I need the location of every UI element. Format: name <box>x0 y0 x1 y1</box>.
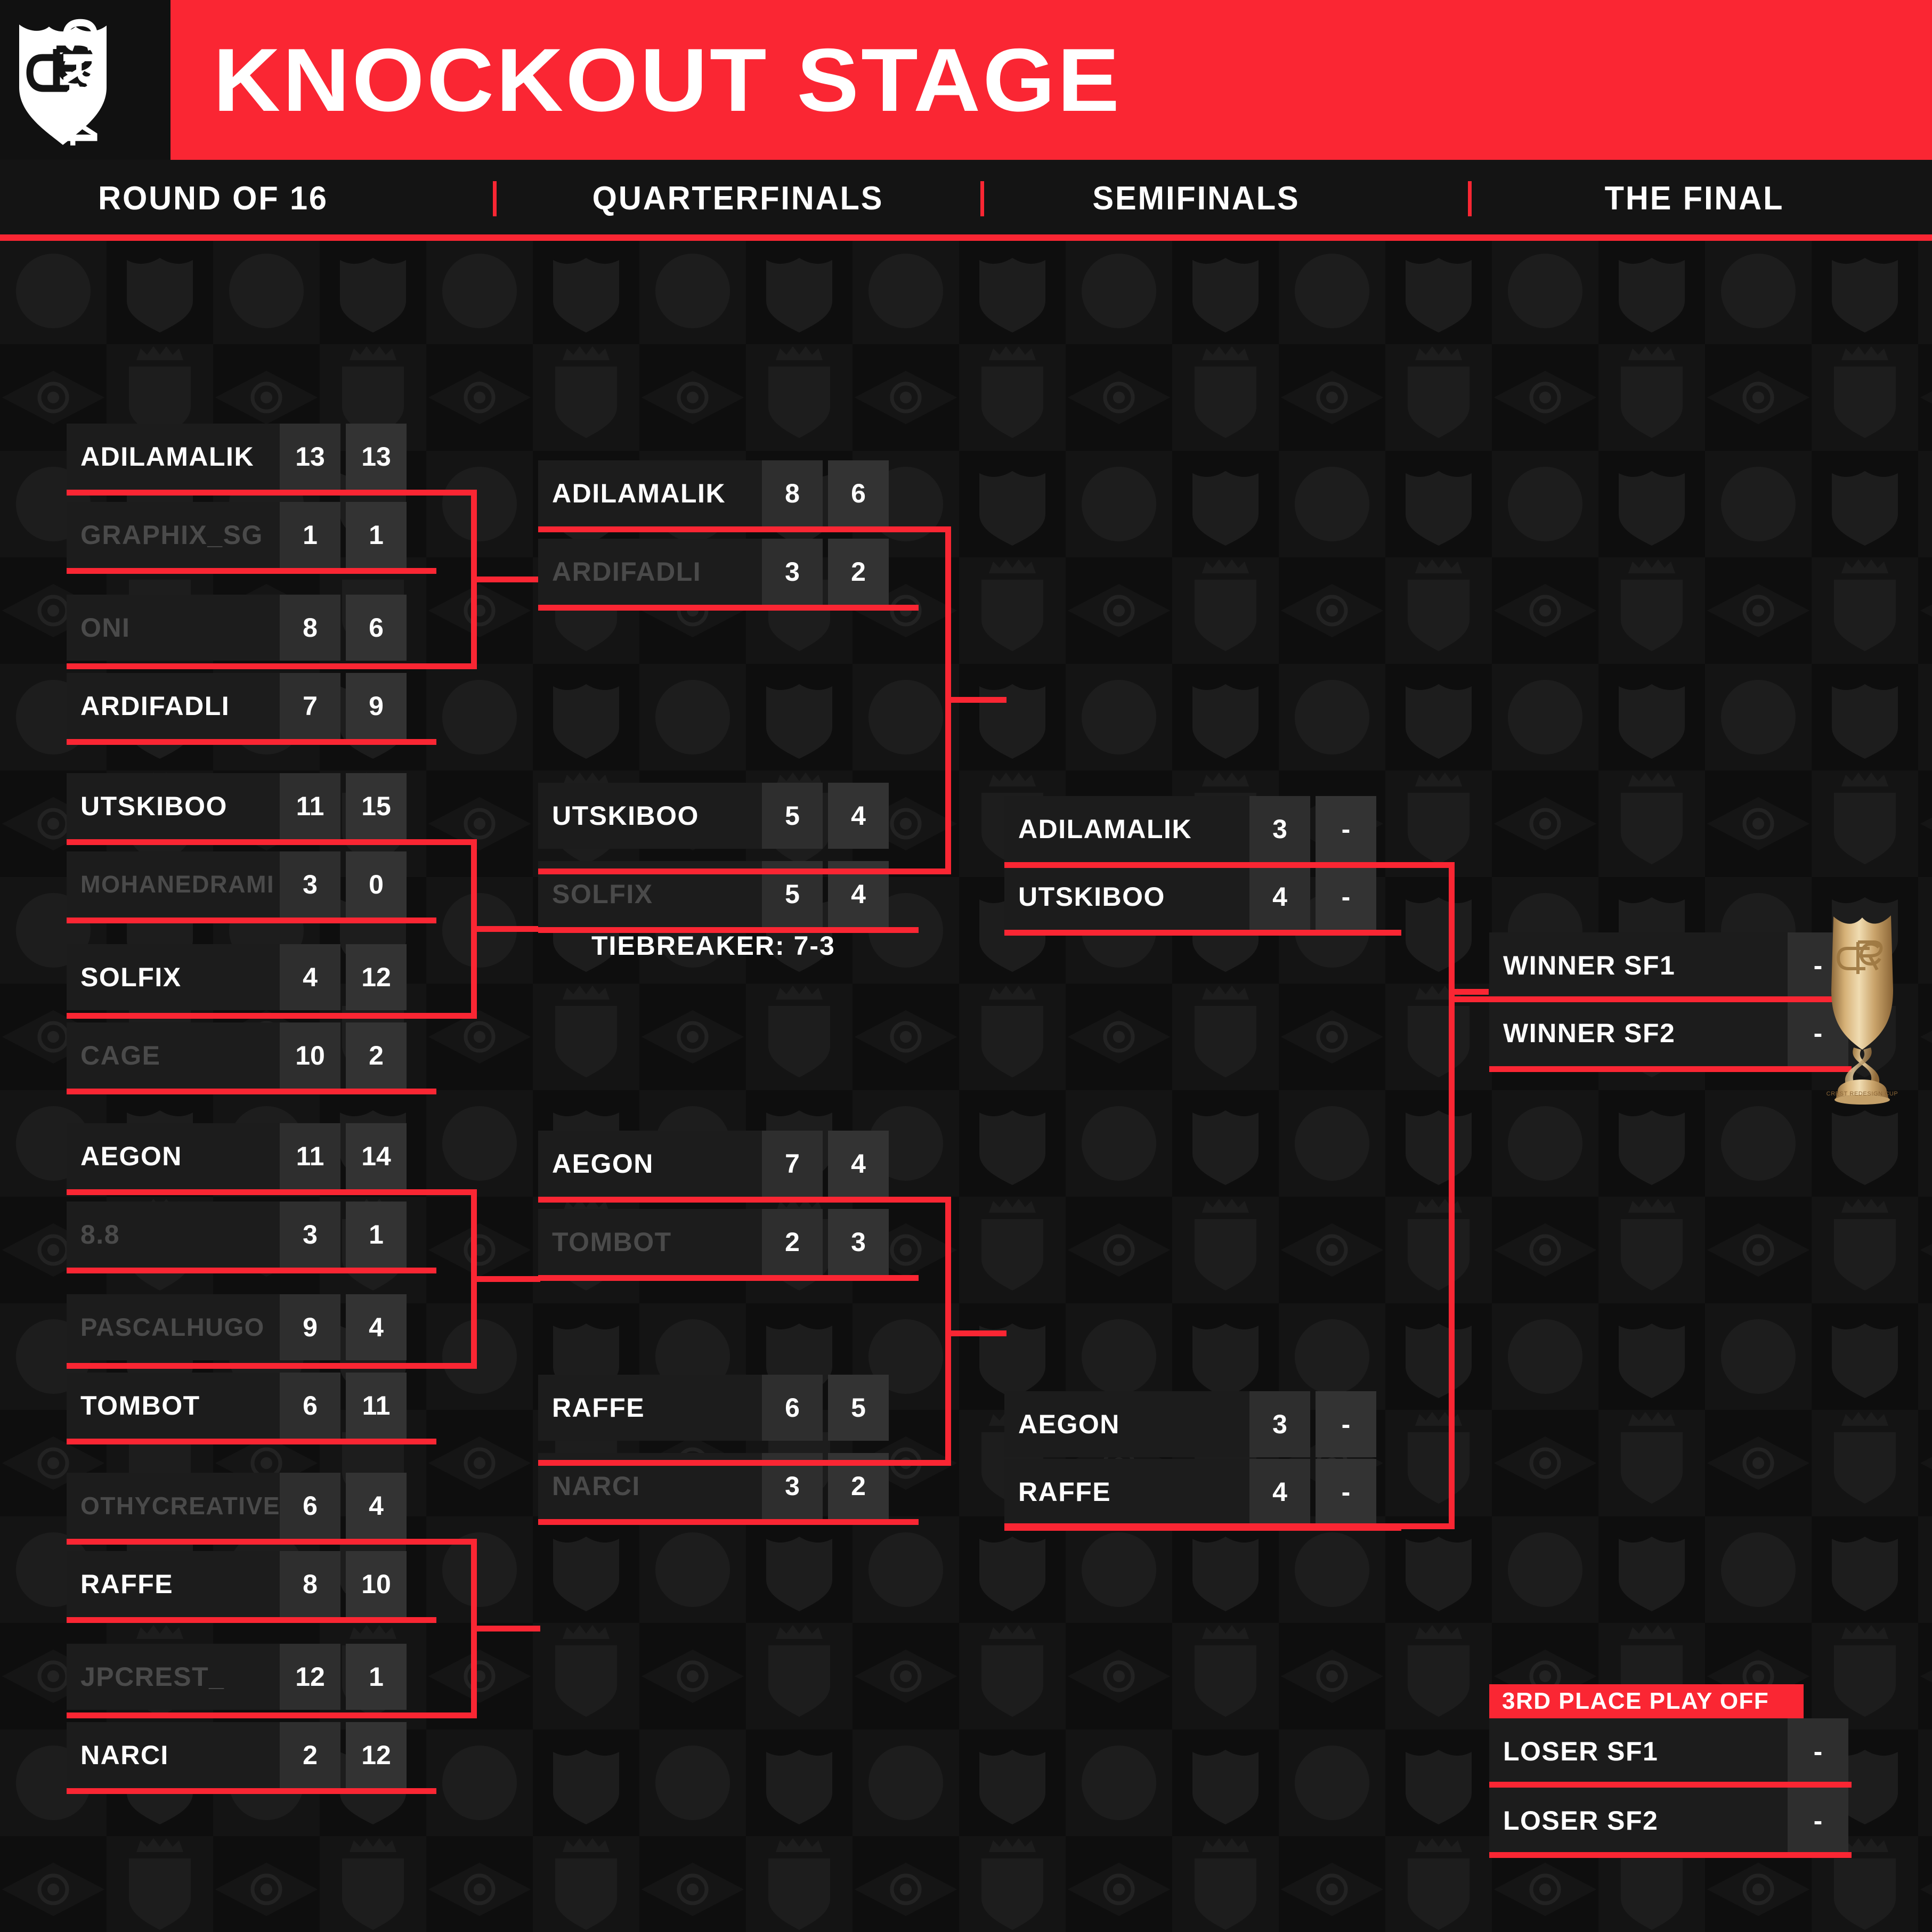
r16-row-1[interactable]: ADILAMALIK 13 13 <box>67 424 408 490</box>
r16-row-8[interactable]: CAGE 10 2 <box>67 1022 408 1089</box>
qf-row-6[interactable]: TOMBOT 2 3 <box>538 1209 890 1275</box>
team-name: UTSKIBOO <box>1004 864 1249 930</box>
score-leg1: 4 <box>1249 864 1310 930</box>
knockout-stage-bracket: CRC4 KNOCKOUT STAGE ROUND OF 16 QUARTERF… <box>0 0 1932 1932</box>
score-leg1: 6 <box>280 1373 340 1439</box>
score-leg2: 12 <box>346 1722 407 1788</box>
final-row-2[interactable]: WINNER SF2 - <box>1489 1000 1852 1066</box>
score-leg1: 4 <box>280 944 340 1010</box>
score-leg1: 11 <box>280 1123 340 1189</box>
score-leg2: 15 <box>346 773 407 839</box>
underline-r16-row14 <box>67 1617 436 1623</box>
qf-row-1[interactable]: ADILAMALIK 8 6 <box>538 460 890 526</box>
third-place-row-1[interactable]: LOSER SF1 - <box>1489 1718 1852 1784</box>
qf-row-7[interactable]: RAFFE 6 5 <box>538 1375 890 1441</box>
score-leg1: 8 <box>762 460 823 526</box>
tab-the-final[interactable]: THE FINAL <box>1500 160 1889 238</box>
connector-r16-p4-out <box>471 1626 540 1631</box>
team-name: JPCREST_ <box>67 1644 280 1710</box>
score-leg1: - <box>1788 1718 1848 1784</box>
underline-qf-row8 <box>538 1519 919 1525</box>
score-leg1: - <box>1788 1788 1848 1854</box>
team-name: ADILAMALIK <box>538 460 762 526</box>
r16-row-13[interactable]: OTHYCREATIVE 6 4 <box>67 1473 408 1539</box>
team-name: LOSER SF2 <box>1489 1788 1788 1854</box>
score-leg1: 3 <box>280 1202 340 1268</box>
score-leg2: 4 <box>346 1473 407 1539</box>
sf-row-4[interactable]: RAFFE 4 - <box>1004 1459 1377 1525</box>
team-name: 8.8 <box>67 1202 280 1268</box>
team-name: RAFFE <box>538 1375 762 1441</box>
underline-r16-row10 <box>67 1268 436 1273</box>
r16-row-2[interactable]: GRAPHIX_SG 1 1 <box>67 502 408 568</box>
team-name: MOHANEDRAMI <box>67 851 280 918</box>
r16-row-6[interactable]: MOHANEDRAMI 3 0 <box>67 851 408 918</box>
connector-sf-p1-right <box>1449 862 1455 1529</box>
underline-sf-row4 <box>1004 1525 1401 1531</box>
connector-r16-p2-out <box>471 926 540 932</box>
score-leg2: - <box>1316 864 1376 930</box>
score-leg2: - <box>1316 796 1376 862</box>
score-leg2: 5 <box>828 1375 889 1441</box>
round-separator-3 <box>1468 181 1472 216</box>
score-leg1: 2 <box>280 1722 340 1788</box>
connector-r16-p2-bot <box>67 1013 477 1019</box>
team-name: NARCI <box>67 1722 280 1788</box>
team-name: CAGE <box>67 1022 280 1089</box>
connector-qf-p2-top <box>538 1197 951 1203</box>
score-leg2: 12 <box>346 944 407 1010</box>
logo-crc4-label: CRC4 <box>53 17 107 145</box>
round-tabs: ROUND OF 16 QUARTERFINALS SEMIFINALS THE… <box>0 160 1932 238</box>
team-name: WINNER SF1 <box>1489 932 1788 999</box>
score-leg1: 1 <box>280 502 340 568</box>
team-name: RAFFE <box>67 1551 280 1617</box>
round-separator-2 <box>980 181 984 216</box>
underline-r16-row12 <box>67 1439 436 1444</box>
score-leg2: 4 <box>346 1294 407 1360</box>
score-leg2: 6 <box>346 595 407 661</box>
score-leg1: 7 <box>280 673 340 739</box>
connector-r16-p4-bot <box>67 1712 477 1718</box>
page-title: KNOCKOUT STAGE <box>213 12 1122 148</box>
r16-row-10[interactable]: 8.8 3 1 <box>67 1202 408 1268</box>
connector-qf-p2-out <box>945 1330 1006 1336</box>
score-leg1: 4 <box>1249 1459 1310 1525</box>
team-name: ARDIFADLI <box>538 539 762 605</box>
score-leg1: 9 <box>280 1294 340 1360</box>
r16-row-9[interactable]: AEGON 11 14 <box>67 1123 408 1189</box>
team-name: ARDIFADLI <box>67 673 280 739</box>
score-leg1: 3 <box>1249 796 1310 862</box>
third-place-row-2[interactable]: LOSER SF2 - <box>1489 1788 1852 1854</box>
team-name: AEGON <box>538 1131 762 1197</box>
page-header: CRC4 KNOCKOUT STAGE <box>0 0 1932 160</box>
score-leg2: 2 <box>346 1022 407 1089</box>
connector-qf-p1-bot <box>538 868 951 874</box>
score-leg1: 6 <box>762 1375 823 1441</box>
r16-row-15[interactable]: JPCREST_ 12 1 <box>67 1644 408 1710</box>
team-name: AEGON <box>1004 1391 1249 1457</box>
connector-r16-p1-top <box>67 490 477 496</box>
connector-qf-p1-out <box>945 697 1006 703</box>
team-name: RAFFE <box>1004 1459 1249 1525</box>
team-name: TOMBOT <box>538 1209 762 1275</box>
connector-qf-p1-top <box>538 526 951 532</box>
trophy-engraving-text: CREST REDESIGN CUP <box>1827 1091 1898 1097</box>
sf-row-2[interactable]: UTSKIBOO 4 - <box>1004 864 1377 930</box>
score-leg2: 0 <box>346 851 407 918</box>
sf-row-3[interactable]: AEGON 3 - <box>1004 1391 1377 1457</box>
score-leg2: 9 <box>346 673 407 739</box>
underline-final-row2 <box>1489 1066 1852 1072</box>
r16-row-7[interactable]: SOLFIX 4 12 <box>67 944 408 1010</box>
score-leg1: 11 <box>280 773 340 839</box>
r16-row-11[interactable]: PASCALHUGO 9 4 <box>67 1294 408 1360</box>
team-name: SOLFIX <box>67 944 280 1010</box>
score-leg2: 10 <box>346 1551 407 1617</box>
score-leg2: 6 <box>828 460 889 526</box>
score-leg1: 3 <box>280 851 340 918</box>
team-name: LOSER SF1 <box>1489 1718 1788 1784</box>
connector-sf-p1-top <box>1004 862 1455 868</box>
tab-quarterfinals[interactable]: QUARTERFINALS <box>521 160 955 238</box>
r16-row-12[interactable]: TOMBOT 6 11 <box>67 1373 408 1439</box>
score-leg1: 2 <box>762 1209 823 1275</box>
underline-sf-row2 <box>1004 930 1401 936</box>
score-leg1: 8 <box>280 595 340 661</box>
score-leg2: 2 <box>828 539 889 605</box>
r16-row-14[interactable]: RAFFE 8 10 <box>67 1551 408 1617</box>
tiebreaker-note: TIEBREAKER: 7-3 <box>591 930 835 961</box>
trophy-cup-icon: CREST REDESIGN CUP <box>1798 910 1932 1113</box>
underline-qf-row2 <box>538 605 919 611</box>
team-name: GRAPHIX_SG <box>67 502 280 568</box>
score-leg1: 12 <box>280 1644 340 1710</box>
team-name: OTHYCREATIVE <box>67 1473 280 1539</box>
underline-r16-row8 <box>67 1089 436 1094</box>
qf-row-2[interactable]: ARDIFADLI 3 2 <box>538 539 890 605</box>
team-name: UTSKIBOO <box>67 773 280 839</box>
underline-third-row1 <box>1489 1782 1852 1788</box>
team-name: UTSKIBOO <box>538 783 762 849</box>
team-name: WINNER SF2 <box>1489 1000 1788 1066</box>
score-leg2: 1 <box>346 1644 407 1710</box>
tab-round-of-16[interactable]: ROUND OF 16 <box>9 160 418 238</box>
team-name: ADILAMALIK <box>67 424 280 490</box>
connector-sf-out <box>1449 989 1489 995</box>
score-leg1: 6 <box>280 1473 340 1539</box>
connector-qf-p2-bot <box>538 1460 951 1466</box>
score-leg2: 14 <box>346 1123 407 1189</box>
connector-r16-p1-out <box>471 577 540 582</box>
connector-r16-p3-out <box>471 1276 540 1282</box>
score-leg1: 5 <box>762 783 823 849</box>
r16-row-3[interactable]: ONI 8 6 <box>67 595 408 661</box>
underline-third-row2 <box>1489 1852 1852 1858</box>
qf-row-5[interactable]: AEGON 7 4 <box>538 1131 890 1197</box>
score-leg1: 13 <box>280 424 340 490</box>
rounds-underline <box>0 234 1932 241</box>
score-leg2: 1 <box>346 1202 407 1268</box>
round-separator-1 <box>493 181 497 216</box>
connector-final-mid <box>1449 996 1852 1002</box>
score-leg1: 10 <box>280 1022 340 1089</box>
connector-r16-p4-top <box>67 1539 477 1545</box>
third-place-header: 3RD PLACE PLAY OFF <box>1489 1684 1804 1718</box>
score-leg2: - <box>1316 1459 1376 1525</box>
underline-qf-row6 <box>538 1275 919 1281</box>
underline-r16-row16 <box>67 1788 436 1794</box>
team-name: TOMBOT <box>67 1373 280 1439</box>
team-name: ADILAMALIK <box>1004 796 1249 862</box>
bracket-area: ADILAMALIK 13 13 GRAPHIX_SG 1 1 ONI 8 6 … <box>0 238 1932 1932</box>
qf-row-3[interactable]: UTSKIBOO 5 4 <box>538 783 890 849</box>
score-leg2: 3 <box>828 1209 889 1275</box>
connector-r16-p3-bot <box>67 1363 477 1369</box>
team-name: AEGON <box>67 1123 280 1189</box>
score-leg2: 11 <box>346 1373 407 1439</box>
team-name: PASCALHUGO <box>67 1294 280 1360</box>
sf-row-1[interactable]: ADILAMALIK 3 - <box>1004 796 1377 862</box>
brand-logo[interactable]: CRC4 <box>12 7 161 154</box>
connector-r16-p1-bot <box>67 663 477 669</box>
tab-semifinals[interactable]: SEMIFINALS <box>1007 160 1385 238</box>
score-leg2: - <box>1316 1391 1376 1457</box>
final-row-1[interactable]: WINNER SF1 - <box>1489 932 1852 999</box>
underline-r16-row4 <box>67 739 436 745</box>
score-leg1: 7 <box>762 1131 823 1197</box>
r16-row-16[interactable]: NARCI 2 12 <box>67 1722 408 1788</box>
connector-r16-p3-top <box>67 1189 477 1195</box>
score-leg1: 3 <box>762 539 823 605</box>
r16-row-5[interactable]: UTSKIBOO 11 15 <box>67 773 408 839</box>
r16-row-4[interactable]: ARDIFADLI 7 9 <box>67 673 408 739</box>
score-leg2: 4 <box>828 783 889 849</box>
connector-r16-p2-top <box>67 839 477 845</box>
team-name: ONI <box>67 595 280 661</box>
score-leg2: 1 <box>346 502 407 568</box>
score-leg1: 3 <box>1249 1391 1310 1457</box>
underline-r16-row2 <box>67 568 436 574</box>
score-leg2: 13 <box>346 424 407 490</box>
score-leg2: 4 <box>828 1131 889 1197</box>
underline-r16-row6 <box>67 918 436 923</box>
score-leg1: 8 <box>280 1551 340 1617</box>
